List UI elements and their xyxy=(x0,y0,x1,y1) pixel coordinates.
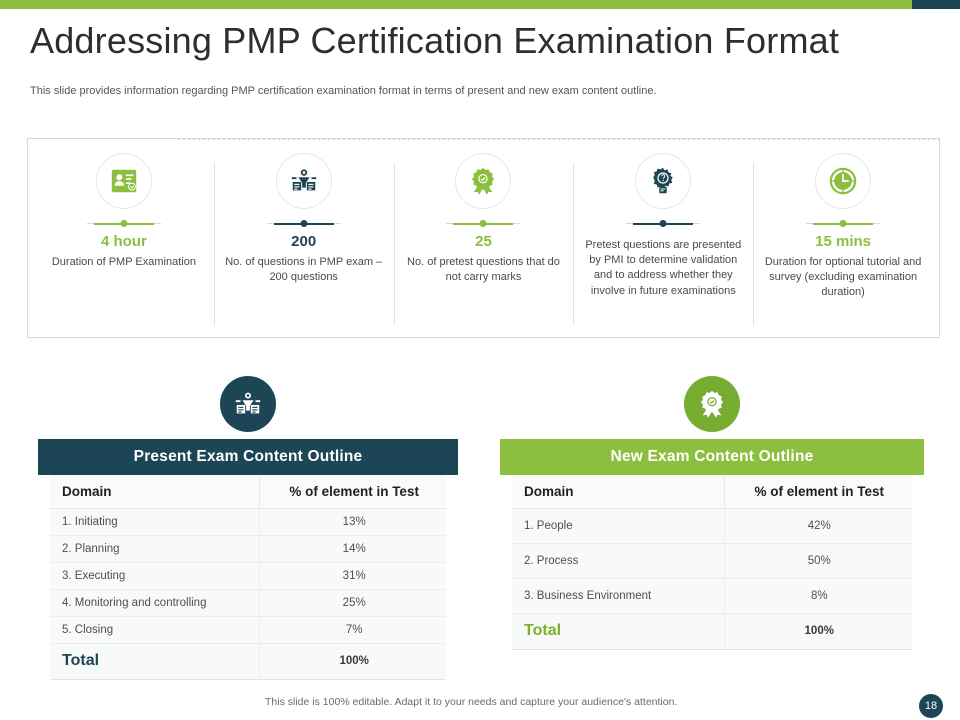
fact-description: No. of questions in PMP exam – 200 quest… xyxy=(222,255,386,285)
id-card-person-icon xyxy=(96,153,152,209)
fact-rule xyxy=(446,220,520,228)
cell-domain: 4. Monitoring and controlling xyxy=(50,590,260,617)
cell-domain: 3. Business Environment xyxy=(512,579,724,614)
fact-value: 25 xyxy=(475,234,492,251)
fact-description: Duration of PMP Examination xyxy=(52,255,196,270)
cell-domain: 1. Initiating xyxy=(50,509,260,536)
total-label: Total xyxy=(50,644,260,680)
fact-value: 15 mins xyxy=(815,234,871,251)
fact-card-pretest: 25 No. of pretest questions that do not … xyxy=(394,153,574,329)
footer-note: This slide is 100% editable. Adapt it to… xyxy=(265,696,677,708)
cell-percent: 42% xyxy=(724,509,912,544)
cell-domain: 2. Planning xyxy=(50,536,260,563)
table-row: 2. Planning 14% xyxy=(50,536,446,563)
fact-rule xyxy=(267,220,341,228)
top-accent-bar xyxy=(0,0,960,9)
fact-description: No. of pretest questions that do not car… xyxy=(402,255,566,285)
present-table-title: Present Exam Content Outline xyxy=(38,439,458,475)
present-exam-table: Domain % of element in Test 1. Initiatin… xyxy=(50,475,446,680)
total-percent: 100% xyxy=(724,614,912,650)
table-total-row: Total 100% xyxy=(512,614,912,650)
slide-root: Addressing PMP Certification Examination… xyxy=(0,0,960,720)
column-header-percent: % of element in Test xyxy=(260,475,446,509)
page-number-badge: 18 xyxy=(919,694,943,718)
fact-rule xyxy=(626,220,700,228)
award-badge-check-icon xyxy=(684,376,740,432)
fact-value: 4 hour xyxy=(101,234,147,251)
fact-value: 200 xyxy=(291,234,316,251)
column-header-domain: Domain xyxy=(512,475,724,509)
table-row: 3. Executing 31% xyxy=(50,563,446,590)
table-total-row: Total 100% xyxy=(50,644,446,680)
presentation-analytics-icon xyxy=(220,376,276,432)
fact-rule xyxy=(87,220,161,228)
table-row: 3. Business Environment 8% xyxy=(512,579,912,614)
award-badge-check-icon xyxy=(455,153,511,209)
cell-percent: 7% xyxy=(260,617,446,644)
new-exam-table: Domain % of element in Test 1. People 42… xyxy=(512,475,912,650)
new-table-title: New Exam Content Outline xyxy=(500,439,924,475)
fact-description: Duration for optional tutorial and surve… xyxy=(761,255,925,301)
table-row: 5. Closing 7% xyxy=(50,617,446,644)
total-label: Total xyxy=(512,614,724,650)
total-percent: 100% xyxy=(260,644,446,680)
present-exam-table-block: Present Exam Content Outline Domain % of… xyxy=(38,376,458,680)
table-row: 1. People 42% xyxy=(512,509,912,544)
table-row: 1. Initiating 13% xyxy=(50,509,446,536)
cell-percent: 25% xyxy=(260,590,446,617)
new-exam-table-block: New Exam Content Outline Domain % of ele… xyxy=(500,376,924,650)
fact-card-questions: 200 No. of questions in PMP exam – 200 q… xyxy=(214,153,394,329)
table-row: 2. Process 50% xyxy=(512,544,912,579)
cell-domain: 1. People xyxy=(512,509,724,544)
cell-percent: 14% xyxy=(260,536,446,563)
cell-percent: 13% xyxy=(260,509,446,536)
table-row: 4. Monitoring and controlling 25% xyxy=(50,590,446,617)
page-subtitle: This slide provides information regardin… xyxy=(30,85,930,97)
gear-question-icon xyxy=(635,153,691,209)
cell-domain: 2. Process xyxy=(512,544,724,579)
cell-percent: 50% xyxy=(724,544,912,579)
cell-percent: 31% xyxy=(260,563,446,590)
fact-card-duration: 4 hour Duration of PMP Examination xyxy=(34,153,214,329)
table-header-row: Domain % of element in Test xyxy=(50,475,446,509)
fact-description: Pretest questions are presented by PMI t… xyxy=(581,238,745,299)
fact-card-pretest-purpose: Pretest questions are presented by PMI t… xyxy=(573,153,753,329)
cell-domain: 5. Closing xyxy=(50,617,260,644)
panel-dotted-border xyxy=(178,138,942,140)
cell-domain: 3. Executing xyxy=(50,563,260,590)
top-accent-navy xyxy=(912,0,960,9)
facts-panel: 4 hour Duration of PMP Examination xyxy=(27,138,940,338)
page-title: Addressing PMP Certification Examination… xyxy=(30,20,930,62)
cell-percent: 8% xyxy=(724,579,912,614)
fact-card-tutorial: 15 mins Duration for optional tutorial a… xyxy=(753,153,933,329)
column-header-percent: % of element in Test xyxy=(724,475,912,509)
table-header-row: Domain % of element in Test xyxy=(512,475,912,509)
presentation-analytics-icon xyxy=(276,153,332,209)
top-accent-green xyxy=(0,0,912,9)
clock-icon xyxy=(815,153,871,209)
column-header-domain: Domain xyxy=(50,475,260,509)
fact-rule xyxy=(806,220,880,228)
